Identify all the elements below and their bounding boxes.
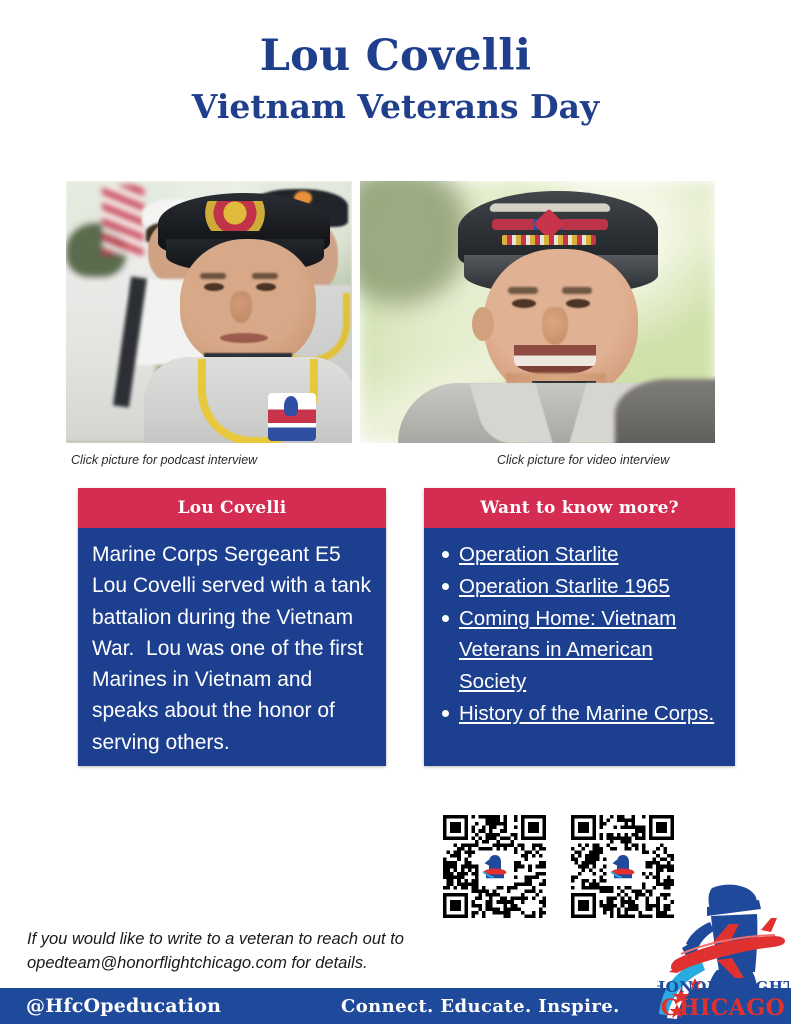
- list-item[interactable]: History of the Marine Corps.: [438, 698, 721, 729]
- list-item[interactable]: Coming Home: Vietnam Veterans in America…: [438, 603, 721, 696]
- resource-link[interactable]: Coming Home: Vietnam Veterans in America…: [459, 607, 676, 692]
- bio-card: Lou Covelli Marine Corps Sergeant E5 Lou…: [78, 488, 386, 766]
- bio-card-body: Marine Corps Sergeant E5 Lou Covelli ser…: [78, 528, 386, 768]
- resource-link[interactable]: Operation Starlite 1965: [459, 575, 670, 598]
- logo-line-2: CHICAGO: [661, 995, 786, 1021]
- links-card-header: Want to know more?: [424, 488, 735, 528]
- resource-link[interactable]: History of the Marine Corps.: [459, 702, 714, 725]
- photo-podcast-link[interactable]: [66, 181, 352, 443]
- page-title: Lou Covelli: [0, 34, 791, 80]
- logo-line-1: HONOR FLIGHT: [657, 978, 789, 996]
- links-card-body: Operation Starlite Operation Starlite 19…: [424, 528, 735, 740]
- list-item[interactable]: Operation Starlite: [438, 539, 721, 570]
- resource-link-list: Operation Starlite Operation Starlite 19…: [438, 539, 721, 729]
- page-title-block: Lou Covelli Vietnam Veterans Day: [0, 34, 791, 127]
- photo-left-veteran-main: [148, 187, 348, 443]
- qr-code-podcast[interactable]: [443, 815, 546, 918]
- bio-card-header: Lou Covelli: [78, 488, 386, 528]
- photo-right-shoulder: [615, 379, 715, 443]
- footer-social-handle[interactable]: @HfcOpeducation: [26, 995, 221, 1017]
- caption-video: Click picture for video interview: [497, 453, 669, 467]
- links-card: Want to know more? Operation Starlite Op…: [424, 488, 735, 766]
- contact-note: If you would like to write to a veteran …: [27, 928, 457, 976]
- honor-flight-chicago-logo: HONOR FLIGHT CHICAGO: [657, 882, 789, 1024]
- footer-tagline: Connect. Educate. Inspire.: [341, 996, 620, 1017]
- list-item[interactable]: Operation Starlite 1965: [438, 571, 721, 602]
- qr-center-logo: [480, 852, 510, 882]
- caption-podcast: Click picture for podcast interview: [71, 453, 257, 467]
- page-subtitle: Vietnam Veterans Day: [0, 86, 791, 127]
- resource-link[interactable]: Operation Starlite: [459, 543, 619, 566]
- qr-center-logo: [608, 852, 638, 882]
- photo-video-link[interactable]: [360, 181, 715, 443]
- bio-card-text: Marine Corps Sergeant E5 Lou Covelli ser…: [92, 539, 372, 758]
